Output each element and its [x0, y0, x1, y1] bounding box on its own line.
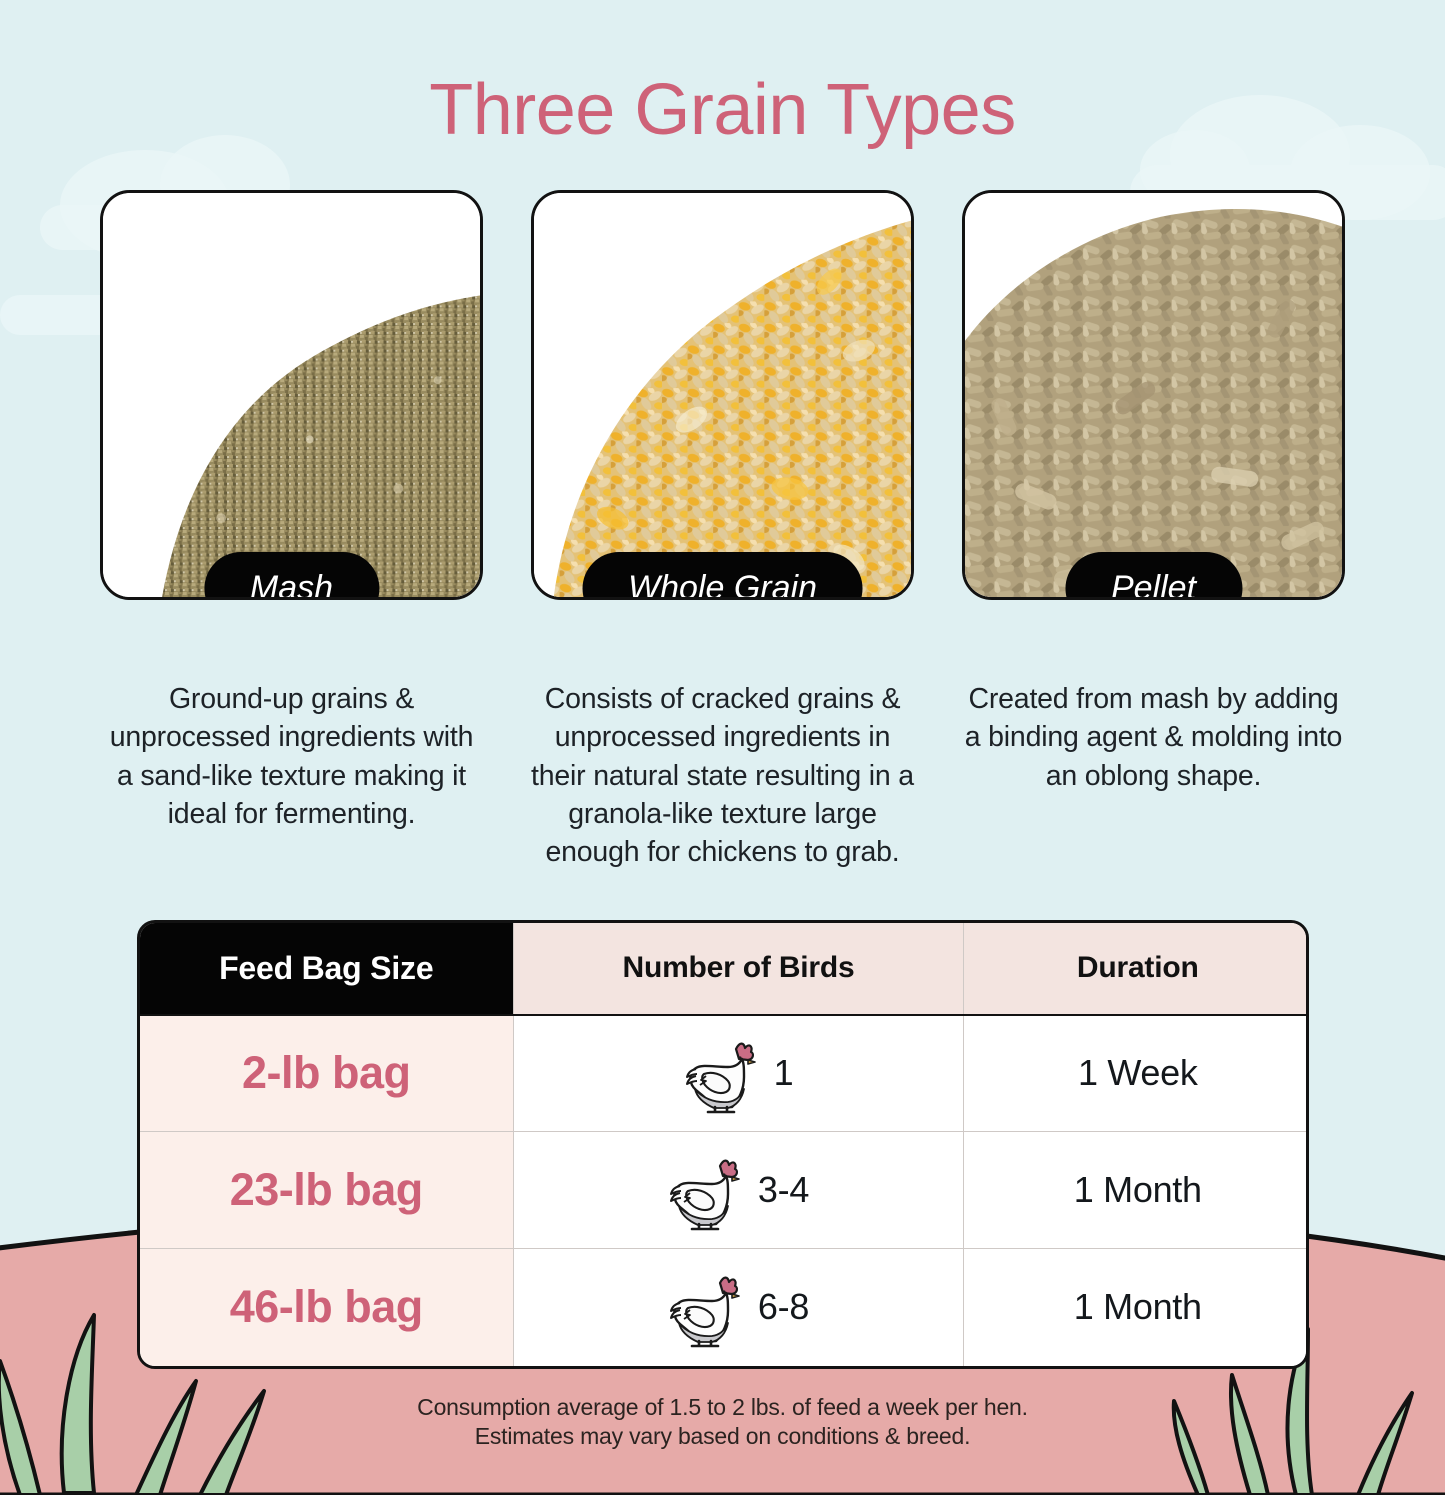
grain-label-mash: Mash [204, 552, 379, 600]
bird-count-label: 1 [774, 1052, 794, 1094]
pellet-photo-card[interactable]: Pellet [962, 190, 1345, 600]
hen-icon [668, 1149, 742, 1231]
column-header-number-of-birds: Number of Birds [514, 923, 964, 1015]
column-header-feed-bag-size: Feed Bag Size [140, 923, 514, 1015]
cell-duration: 1 Month [964, 1249, 1309, 1366]
cell-number-of-birds: 6-8 [514, 1249, 964, 1366]
grain-description-pellet: Created from mash by adding a binding ag… [962, 680, 1345, 795]
cell-bag-size: 46-lb bag [140, 1249, 514, 1366]
footer-line-1: Consumption average of 1.5 to 2 lbs. of … [0, 1393, 1445, 1422]
table-row: 23-lb bag [140, 1132, 1309, 1249]
cell-number-of-birds: 3-4 [514, 1132, 964, 1249]
grain-column-whole-grain: Whole Grain Consists of cracked grains &… [531, 190, 914, 872]
footer-line-2: Estimates may vary based on conditions &… [0, 1422, 1445, 1451]
cell-duration: 1 Week [964, 1015, 1309, 1132]
page-title: Three Grain Types [0, 0, 1445, 146]
cell-number-of-birds: 1 [514, 1015, 964, 1132]
whole-grain-photo-card[interactable]: Whole Grain [531, 190, 914, 600]
whole-grain-photo [534, 193, 911, 597]
table-row: 46-lb bag [140, 1249, 1309, 1366]
table-row: 2-lb bag [140, 1015, 1309, 1132]
column-header-duration: Duration [964, 923, 1309, 1015]
grain-description-whole-grain: Consists of cracked grains & unprocessed… [531, 680, 914, 872]
grain-column-mash: Mash Ground-up grains & unprocessed ingr… [100, 190, 483, 872]
mash-photo-card[interactable]: Mash [100, 190, 483, 600]
pellet-photo [965, 193, 1342, 597]
grain-types-row: Mash Ground-up grains & unprocessed ingr… [0, 190, 1445, 872]
hen-icon [668, 1266, 742, 1348]
footer-note: Consumption average of 1.5 to 2 lbs. of … [0, 1393, 1445, 1452]
bird-count-label: 6-8 [758, 1286, 809, 1328]
grain-label-whole-grain: Whole Grain [582, 552, 863, 600]
hen-icon [684, 1032, 758, 1114]
feed-bag-table: Feed Bag Size Number of Birds Duration 2… [137, 920, 1309, 1369]
cell-duration: 1 Month [964, 1132, 1309, 1249]
table-header-row: Feed Bag Size Number of Birds Duration [140, 923, 1309, 1015]
grain-column-pellet: Pellet Created from mash by adding a bin… [962, 190, 1345, 872]
bird-count-label: 3-4 [758, 1169, 809, 1211]
grain-label-pellet: Pellet [1065, 552, 1242, 600]
grain-description-mash: Ground-up grains & unprocessed ingredien… [100, 680, 483, 833]
cell-bag-size: 23-lb bag [140, 1132, 514, 1249]
cell-bag-size: 2-lb bag [140, 1015, 514, 1132]
mash-photo [103, 193, 480, 597]
